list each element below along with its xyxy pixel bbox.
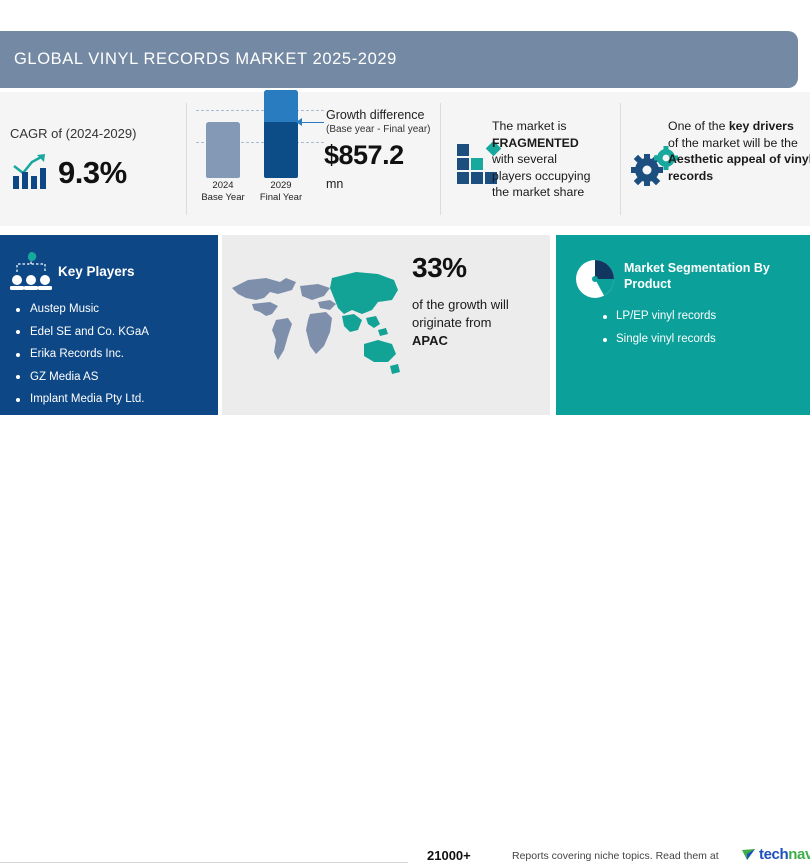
page-title: GLOBAL VINYL RECORDS MARKET 2025-2029 <box>14 50 397 69</box>
list-item: Implant Media Pty Ltd. <box>12 388 212 411</box>
bar-label-base-year-year: 2024 <box>212 180 233 191</box>
list-item: LP/EP vinyl records <box>600 305 800 328</box>
bar-label-base-year-sub: Base Year <box>201 192 244 203</box>
footer: 21000+ Reports covering niche topics. Re… <box>0 415 810 480</box>
cagr-value: 9.3% <box>58 155 127 191</box>
bar-label-final-year-year: 2029 <box>270 180 291 191</box>
callout-arrow-icon <box>296 118 302 126</box>
segmentation-title: Market Segmentation By Product <box>624 260 804 292</box>
infographic-canvas: GLOBAL VINYL RECORDS MARKET 2025-2029 CA… <box>0 0 810 480</box>
segmentation-list: LP/EP vinyl records Single vinyl records <box>600 305 800 351</box>
apac-percentage: 33% <box>412 252 467 284</box>
bar-growth-difference <box>264 90 298 122</box>
callout-line <box>300 122 324 123</box>
apac-line1: of the growth will <box>412 297 509 312</box>
fragmentation-line3: players occupying <box>492 169 590 183</box>
key-driver-bold1: key drivers <box>729 119 794 133</box>
list-item: Single vinyl records <box>600 328 800 351</box>
key-driver-bold2: Aesthetic appeal of vinyl records <box>668 152 810 183</box>
fragmentation-text: The market is FRAGMENTED with several pl… <box>492 118 610 201</box>
apac-description: of the growth will originate from APAC <box>412 296 542 350</box>
key-players-list: Austep Music Edel SE and Co. KGaA Erika … <box>12 298 212 411</box>
bar-base-year <box>206 122 240 178</box>
key-driver-line2: of the market will be the <box>668 136 798 150</box>
footer-text: Reports covering niche topics. Read them… <box>512 850 719 862</box>
key-driver-line1: One of the <box>668 119 729 133</box>
bar-base-year-cap <box>206 122 240 126</box>
growth-difference-title: Growth difference <box>326 108 424 122</box>
growth-difference-value: $857.2 <box>324 140 404 171</box>
divider-2 <box>440 103 441 215</box>
key-players-title: Key Players <box>58 264 135 279</box>
network-people-icon <box>8 250 54 292</box>
divider-1 <box>186 103 187 215</box>
bar-label-final-year-sub: Final Year <box>260 192 302 203</box>
apac-line2: originate from <box>412 315 491 330</box>
technavio-wordmark: technavi <box>759 846 810 863</box>
gridline-top <box>196 110 324 111</box>
list-item: GZ Media AS <box>12 366 212 389</box>
logo-text-tech: tech <box>759 846 788 863</box>
list-item: Austep Music <box>12 298 212 321</box>
fragmentation-line4: the market share <box>492 185 584 199</box>
divider-3 <box>620 103 621 215</box>
bar-label-final-year: 2029 Final Year <box>254 180 308 204</box>
growth-bar-chart: 2024 Base Year 2029 Final Year <box>196 100 316 200</box>
bar-chart-growth-icon <box>10 152 52 192</box>
fragmentation-line2: with several <box>492 152 557 166</box>
reports-count: 21000+ <box>427 848 471 863</box>
fragmentation-bold: FRAGMENTED <box>492 136 579 150</box>
cagr-label: CAGR of (2024-2029) <box>10 126 136 141</box>
list-item: Erika Records Inc. <box>12 343 212 366</box>
world-map <box>226 258 406 398</box>
fragmentation-line1: The market is <box>492 119 566 133</box>
bar-label-base-year: 2024 Base Year <box>196 180 250 204</box>
footer-divider <box>0 862 408 863</box>
pie-chart-icon <box>574 258 616 300</box>
technavio-mark-icon <box>742 848 756 861</box>
growth-difference-unit: mn <box>326 177 343 191</box>
list-item: Edel SE and Co. KGaA <box>12 321 212 344</box>
logo-text-navi: navi <box>788 846 810 863</box>
apac-region-name: APAC <box>412 333 448 348</box>
growth-difference-subtitle: (Base year - Final year) <box>326 124 430 135</box>
key-driver-text: One of the key drivers of the market wil… <box>668 118 810 184</box>
